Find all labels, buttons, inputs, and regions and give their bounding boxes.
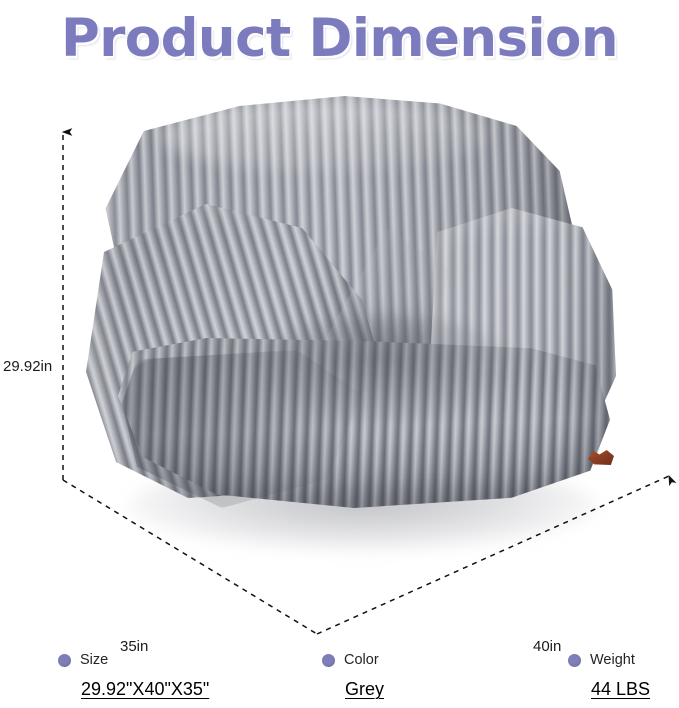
product-dimension-infographic: Product Dimension bbox=[0, 0, 679, 708]
spec-item-weight: Weight 44 LBS bbox=[568, 650, 650, 700]
spec-weight-header: Weight bbox=[568, 650, 650, 670]
spec-color-header: Color bbox=[322, 650, 384, 670]
spec-size-header: Size bbox=[58, 650, 209, 670]
page-title-text: Product Dimension bbox=[61, 12, 618, 65]
spec-size-value: 29.92"X40"X35" bbox=[81, 679, 209, 700]
bullet-dot-icon bbox=[568, 654, 581, 667]
spec-weight-label: Weight bbox=[590, 652, 635, 668]
spec-item-size: Size 29.92"X40"X35" bbox=[58, 650, 209, 700]
bullet-dot-icon bbox=[322, 654, 335, 667]
spec-color-value: Grey bbox=[345, 679, 384, 700]
depth-dimension-line bbox=[63, 480, 317, 634]
width-dimension-line bbox=[317, 476, 669, 634]
specification-row: Size 29.92"X40"X35" Color Grey Weight 44… bbox=[0, 650, 679, 708]
bullet-dot-icon bbox=[58, 654, 71, 667]
dimension-diagram: 29.92in 35in 40in bbox=[0, 78, 679, 643]
spec-size-label: Size bbox=[80, 652, 108, 668]
dimension-guide-lines bbox=[0, 78, 679, 643]
page-title: Product Dimension bbox=[0, 2, 679, 74]
spec-item-color: Color Grey bbox=[322, 650, 384, 700]
spec-weight-value: 44 LBS bbox=[591, 679, 650, 700]
spec-color-label: Color bbox=[344, 652, 379, 668]
height-label: 29.92in bbox=[3, 358, 52, 375]
